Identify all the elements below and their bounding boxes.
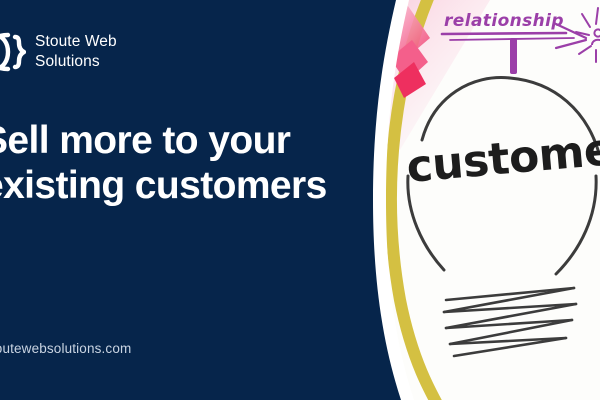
purple-tick-mark	[510, 38, 517, 74]
site-url[interactable]: stoutewebsolutions.com	[0, 341, 131, 356]
underline-stroke	[442, 33, 566, 34]
sketch-word-relationship: relationship	[444, 11, 564, 31]
brand-name-text: Stoute Web Solutions	[35, 32, 117, 72]
banner-content: Stoute Web Solutions Sell more to your e…	[0, 0, 420, 400]
brand-logo-lockup[interactable]: Stoute Web Solutions	[0, 30, 117, 74]
page-title: Sell more to your existing customers	[0, 118, 422, 208]
stoute-brace-logo-icon	[0, 30, 26, 74]
banner-canvas: relationship customer Stoute Web Solutio…	[0, 0, 600, 400]
